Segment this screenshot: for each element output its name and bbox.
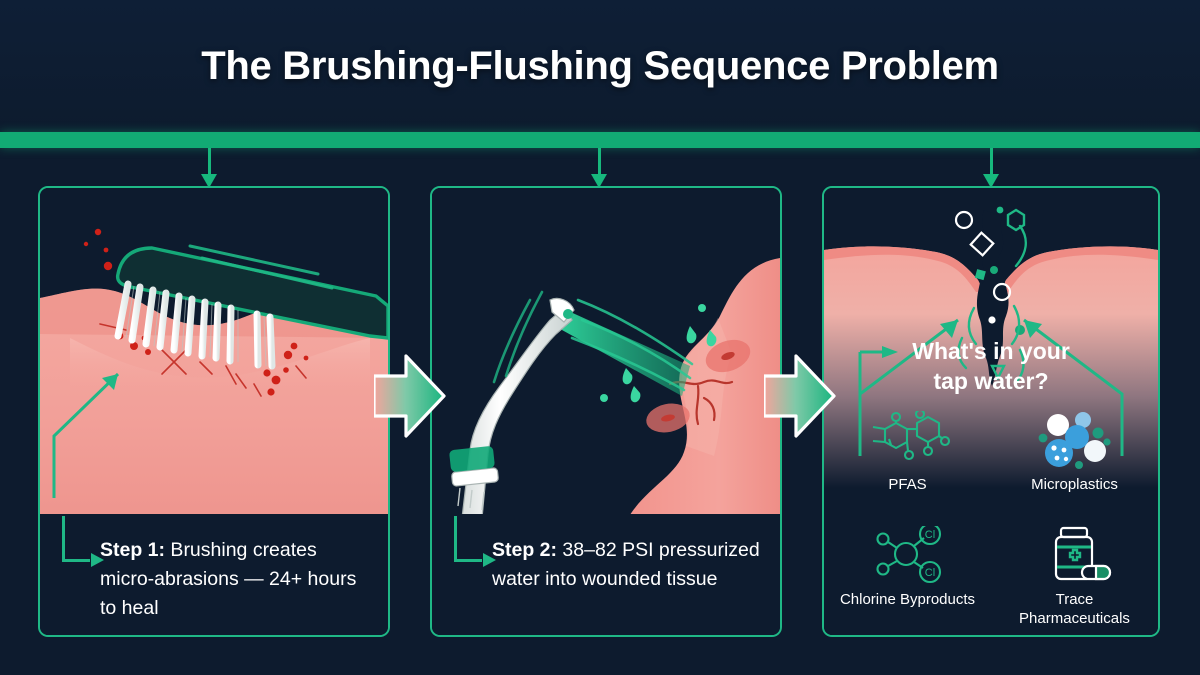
pfas-molecule-icon	[865, 409, 951, 471]
contaminant-label-chlorine: Chlorine Byproducts	[840, 590, 975, 609]
step-1-label: Step 1:	[100, 539, 165, 561]
contaminant-grid: PFAS	[824, 403, 1158, 633]
title-bar: The Brushing-Flushing Sequence Problem	[0, 0, 1200, 132]
microplastics-icon	[1035, 409, 1115, 471]
infographic-canvas: The Brushing-Flushing Sequence Problem	[0, 0, 1200, 675]
contaminant-label-pharmaceuticals: Trace Pharmaceuticals	[1000, 590, 1150, 628]
wound-channel-illustration: What's in your tap water?	[824, 188, 1158, 637]
flossing-illustration	[432, 188, 780, 518]
caption-elbow-arrow-1	[62, 516, 90, 562]
pill-bottle-icon	[1035, 524, 1115, 586]
contaminant-chlorine[interactable]: Cl Cl Chlorine Byproducts	[824, 518, 991, 633]
capsule	[1082, 566, 1110, 579]
drop-arrow-panel-3	[990, 148, 993, 174]
connector-arrow-1-to-2	[374, 350, 446, 442]
step-2-label: Step 2:	[492, 539, 557, 561]
brushing-illustration	[40, 188, 388, 518]
contaminant-pfas[interactable]: PFAS	[824, 403, 991, 518]
accent-rule	[0, 132, 1200, 148]
panel-contaminants[interactable]: What's in your tap water?	[822, 186, 1160, 637]
contaminant-label-microplastics: Microplastics	[1031, 475, 1118, 494]
water-flosser-svg	[432, 188, 780, 518]
nozzle-tip	[563, 309, 573, 319]
contaminant-label-pfas: PFAS	[888, 475, 926, 494]
page-title: The Brushing-Flushing Sequence Problem	[201, 44, 999, 89]
panel-brushing[interactable]: Step 1: Brushing creates micro-abrasions…	[38, 186, 390, 637]
panel-flossing[interactable]: Step 2: 38–82 PSI pressurized water into…	[430, 186, 782, 637]
svg-text:Cl: Cl	[924, 529, 934, 541]
caption-elbow-arrow-2	[454, 516, 482, 562]
caption-step-2: Step 2: 38–82 PSI pressurized water into…	[432, 514, 780, 635]
svg-text:Cl: Cl	[924, 567, 934, 579]
contaminant-microplastics[interactable]: Microplastics	[991, 403, 1158, 518]
contaminant-pharmaceuticals[interactable]: Trace Pharmaceuticals	[991, 518, 1158, 633]
caption-step-1: Step 1: Brushing creates micro-abrasions…	[40, 514, 388, 635]
chlorine-molecule-icon: Cl Cl	[868, 524, 948, 586]
drop-arrow-panel-2	[598, 148, 601, 174]
wand-grip	[449, 446, 495, 472]
drop-arrow-panel-1	[208, 148, 211, 174]
toothbrush-gum-svg	[40, 188, 388, 518]
